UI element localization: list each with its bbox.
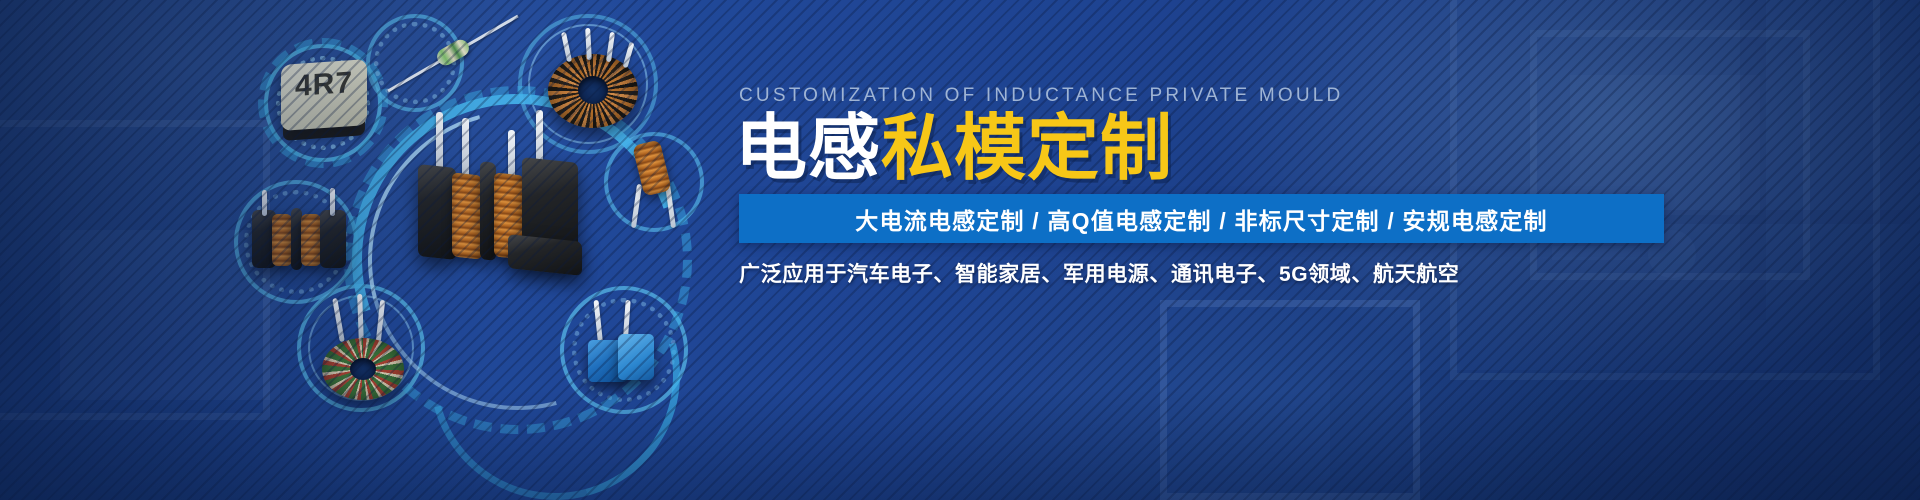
cmc-coil-left bbox=[452, 172, 482, 259]
feature-bar: 大电流电感定制 / 高Q值电感定制 / 非标尺寸定制 / 安规电感定制 bbox=[739, 194, 1664, 243]
banner-title-white: 电感 bbox=[735, 109, 881, 189]
product-axial-leaded-inductor bbox=[378, 22, 528, 92]
inductance-custom-mould-banner: 4R7 bbox=[0, 0, 1920, 500]
cmc-foot bbox=[508, 234, 582, 276]
cmc-lead-2 bbox=[462, 118, 469, 180]
rod-choke-lead-1 bbox=[631, 184, 642, 228]
product-copper-bobbin-choke bbox=[252, 196, 348, 286]
green-toroid-core-hole bbox=[350, 358, 376, 380]
toroid-core-hole bbox=[578, 76, 608, 104]
bobbin-choke-lead-2 bbox=[330, 188, 335, 216]
green-toroid-lead-1 bbox=[332, 298, 345, 342]
banner-title: 电感私模定制 bbox=[735, 110, 1173, 188]
product-green-toroidal-inductor bbox=[320, 296, 414, 406]
blue-inductor-body-light bbox=[618, 334, 654, 380]
feature-bar-text: 大电流电感定制 / 高Q值电感定制 / 非标尺寸定制 / 安规电感定制 bbox=[855, 202, 1547, 236]
green-toroid-lead-3 bbox=[376, 300, 385, 342]
application-text: 广泛应用于汽车电子、智能家居、军用电源、通讯电子、5G领域、航天航空 bbox=[739, 258, 1459, 288]
product-radial-blue-inductor bbox=[584, 300, 662, 392]
machinery-shape-column bbox=[1740, 0, 1766, 320]
smd-inductor-label: 4R7 bbox=[281, 65, 367, 105]
machinery-shape-left-frame bbox=[0, 120, 270, 420]
axial-inductor-body bbox=[434, 37, 472, 69]
bobbin-choke-coil-a bbox=[272, 214, 292, 266]
bobbin-choke-coil-b bbox=[301, 214, 321, 266]
product-large-common-mode-choke bbox=[412, 112, 592, 272]
banner-title-gold: 私模定制 bbox=[881, 109, 1173, 189]
bobbin-choke-lead-1 bbox=[262, 190, 267, 216]
cmc-bobbin-left bbox=[418, 164, 456, 260]
product-vertical-rod-choke bbox=[626, 140, 686, 232]
banner-content: CUSTOMIZATION OF INDUCTANCE PRIVATE MOUL… bbox=[735, 0, 1735, 500]
banner-eyebrow-english: CUSTOMIZATION OF INDUCTANCE PRIVATE MOUL… bbox=[739, 85, 1343, 107]
green-toroid-lead-2 bbox=[357, 294, 364, 342]
bobbin-choke-core-right bbox=[320, 210, 346, 268]
product-smd-power-inductor: 4R7 bbox=[281, 62, 367, 142]
